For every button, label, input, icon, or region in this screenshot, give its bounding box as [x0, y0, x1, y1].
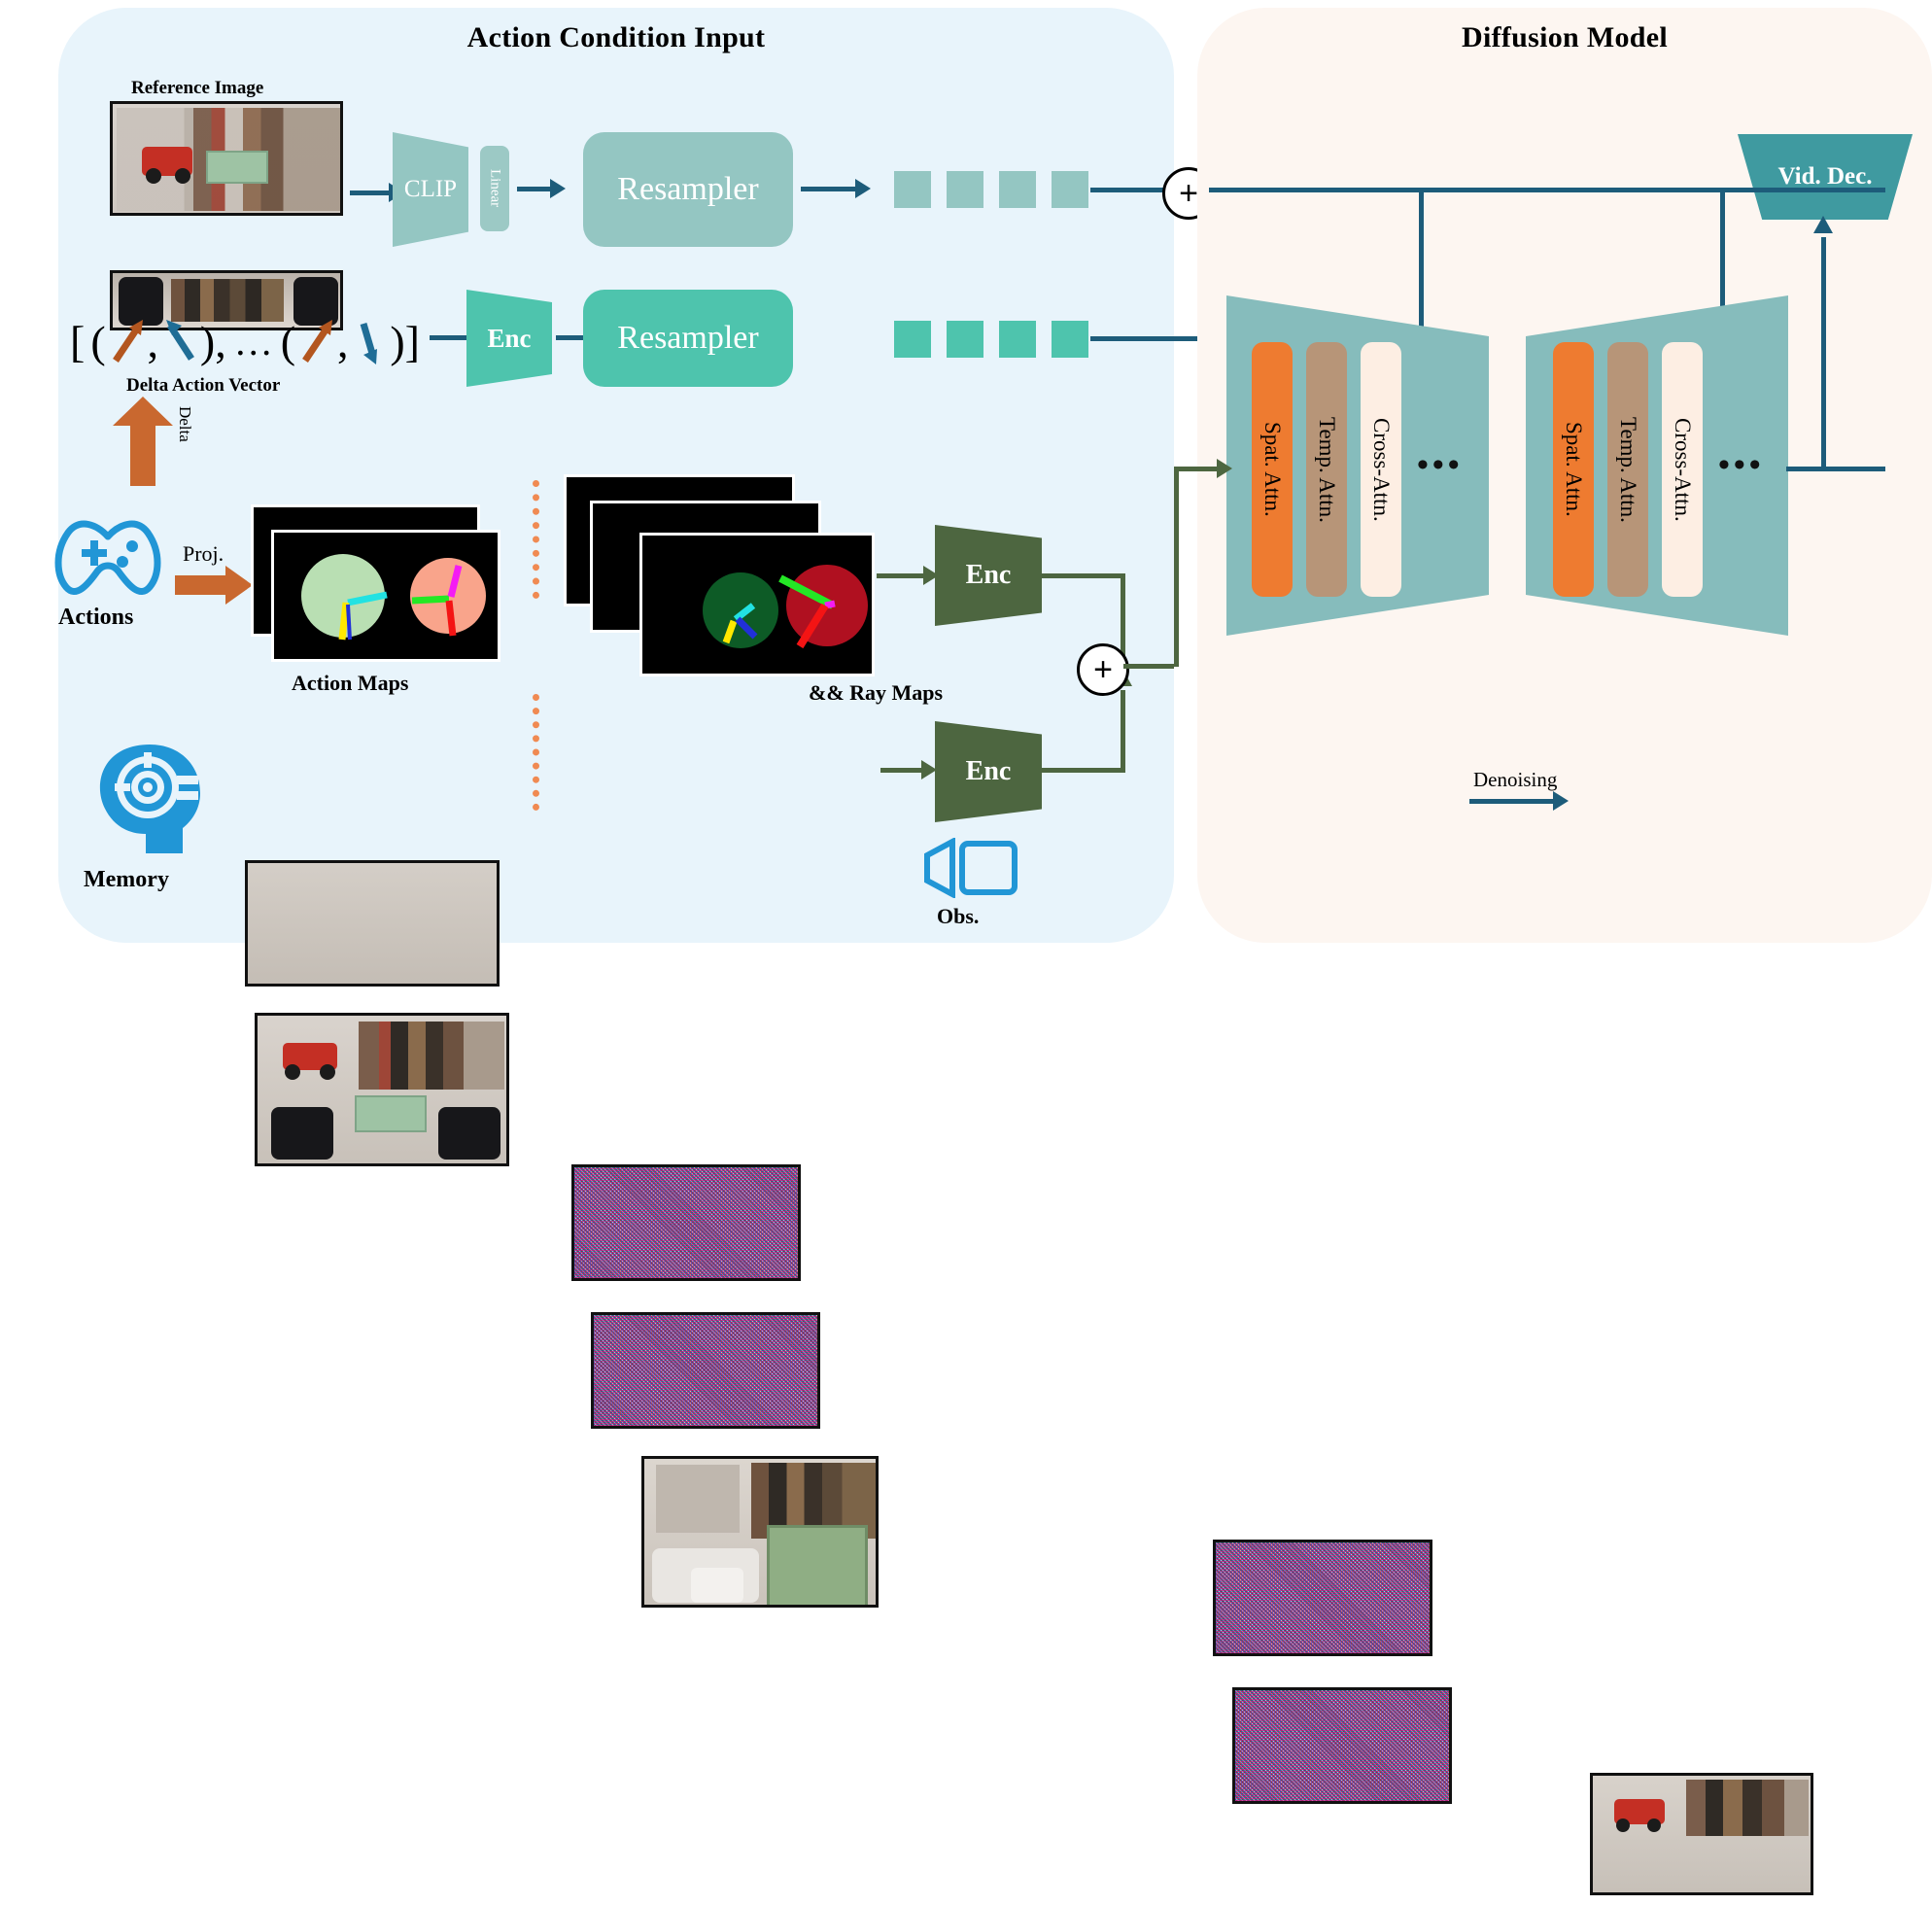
dashed-separator-top: [533, 480, 546, 599]
enc-label-3: Enc: [966, 756, 1012, 787]
comma-3: ,: [337, 316, 349, 367]
enc-label-2: Enc: [966, 560, 1012, 591]
comma-2: ,: [215, 316, 226, 367]
arrow-down-right-icon-1: [160, 316, 198, 366]
action-enc-block: Enc: [466, 290, 552, 387]
arrow-denoising: [1469, 799, 1557, 804]
denoise-input-frame-front: [1232, 1687, 1452, 1804]
unet-ellipsis-2: •••: [1718, 447, 1765, 484]
cross-attn-block-1: Cross-Attn.: [1361, 342, 1401, 597]
action-token-3: [1052, 321, 1088, 358]
arrow-up-right-icon-1: [108, 316, 146, 366]
bracket-close: ]: [405, 316, 420, 367]
image-token-2: [999, 171, 1036, 208]
action-token-2: [999, 321, 1036, 358]
temp-attn-block-1: Temp. Attn.: [1306, 342, 1347, 597]
noisy-obs-frame-mid: [591, 1312, 820, 1429]
delta-arrow-label: Delta: [175, 406, 194, 442]
action-maps-label: Action Maps: [292, 671, 408, 696]
sum-node-latent: +: [1077, 643, 1129, 696]
obs-photo-front: [641, 1456, 879, 1608]
memory-photo-front: [255, 1013, 509, 1166]
plus-symbol-2: +: [1093, 653, 1113, 686]
arrow-obs-to-enc: [880, 768, 925, 773]
unet-ellipsis-1: •••: [1417, 447, 1464, 484]
image-token-0: [894, 171, 931, 208]
denoise-input-frame-back: [1213, 1540, 1432, 1656]
denoising-label: Denoising: [1473, 768, 1557, 792]
paren-open-2: (: [281, 316, 295, 367]
bracket-open: [: [70, 316, 85, 367]
reference-image-label: Reference Image: [131, 78, 263, 99]
image-token-1: [947, 171, 983, 208]
obs-enc-block: Enc: [935, 721, 1042, 822]
arrow-down-icon-2: [350, 316, 388, 366]
memory-label: Memory: [84, 867, 169, 893]
actions-label: Actions: [58, 605, 133, 631]
arrow-resampler1-to-tokens: [801, 187, 857, 191]
spat-attn-block-1: Spat. Attn.: [1252, 342, 1293, 597]
enc-label-1: Enc: [487, 324, 531, 354]
resampler-label-2: Resampler: [617, 320, 758, 357]
memory-photo-back: [245, 860, 500, 987]
spat-attn-block-2: Spat. Attn.: [1553, 342, 1594, 597]
resampler-label-1: Resampler: [617, 171, 758, 208]
clip-encoder-block: CLIP: [393, 132, 468, 247]
dashed-separator-bottom: [533, 694, 546, 811]
action-token-1: [947, 321, 983, 358]
video-decoder-block: Vid. Dec.: [1738, 134, 1913, 220]
spat-attn-label-2: Spat. Attn.: [1561, 422, 1586, 517]
arrow-vector-to-enc: [430, 335, 470, 340]
wire-enc2-right: [1042, 573, 1125, 578]
camera-frustum-icon: [923, 838, 1030, 898]
paren-close-1: ): [200, 316, 215, 367]
comma-1: ,: [148, 316, 159, 367]
arrow-enc-to-resampler2: [556, 335, 585, 340]
arrow-up-right-icon-2: [297, 316, 335, 366]
arrow-linear-to-resampler1: [517, 187, 552, 191]
reference-image-top: [110, 101, 343, 216]
wire-enc3-right: [1042, 768, 1125, 773]
cross-attn-label-2: Cross-Attn.: [1670, 418, 1695, 522]
delta-arrow-icon: [109, 397, 177, 486]
paren-open-1: (: [90, 316, 105, 367]
proj-arrow-icon: [175, 564, 255, 606]
obs-label: Obs.: [937, 904, 979, 929]
wire-condition-bus: [1209, 188, 1885, 192]
action-token-0: [894, 321, 931, 358]
panel-title-action-condition-input: Action Condition Input: [58, 21, 1174, 54]
resampler-block-action: Resampler: [583, 290, 793, 387]
linear-layer-block: Linear: [480, 146, 509, 231]
brain-memory-icon: [87, 737, 206, 861]
wire-sum-latent-out: [1123, 664, 1174, 669]
gamepad-icon: [47, 515, 169, 601]
noisy-obs-frame-back: [571, 1164, 801, 1281]
temp-attn-label-1: Temp. Attn.: [1314, 417, 1339, 523]
cross-attn-block-2: Cross-Attn.: [1662, 342, 1703, 597]
image-token-3: [1052, 171, 1088, 208]
vid-dec-label: Vid. Dec.: [1778, 163, 1873, 190]
linear-label: Linear: [487, 169, 503, 207]
temp-attn-block-2: Temp. Attn.: [1607, 342, 1648, 597]
raymap-enc-block: Enc: [935, 525, 1042, 626]
plus-symbol-1: +: [1179, 177, 1198, 210]
paren-close-2: ): [390, 316, 404, 367]
ray-map-frame-front: [639, 533, 875, 676]
ray-maps-label: && Ray Maps: [809, 680, 943, 706]
arrow-ref-to-clip: [350, 190, 391, 195]
panel-title-diffusion-model: Diffusion Model: [1197, 21, 1932, 54]
wire-enc3-up: [1121, 690, 1125, 770]
delta-action-vector-expression: [ ( , ) , … ( , ) ]: [70, 311, 420, 371]
clip-label: CLIP: [404, 176, 457, 203]
denoised-frame-back: [1590, 1773, 1813, 1895]
wire-latent-riser: [1174, 467, 1179, 667]
temp-attn-label-2: Temp. Attn.: [1615, 417, 1640, 523]
wire-latent-to-unet: [1174, 467, 1223, 471]
wire-unet-to-viddec: [1786, 467, 1885, 471]
resampler-block-image: Resampler: [583, 132, 793, 247]
action-map-frame-front: [271, 530, 500, 662]
arrow-raymaps-to-enc: [877, 573, 927, 578]
ellipsis: …: [234, 319, 273, 364]
spat-attn-label-1: Spat. Attn.: [1259, 422, 1285, 517]
wire-viddec-riser: [1821, 237, 1826, 470]
cross-attn-label-1: Cross-Attn.: [1368, 418, 1394, 522]
delta-action-vector-caption: Delta Action Vector: [126, 375, 280, 397]
wire-action-tokens-right: [1090, 336, 1207, 341]
